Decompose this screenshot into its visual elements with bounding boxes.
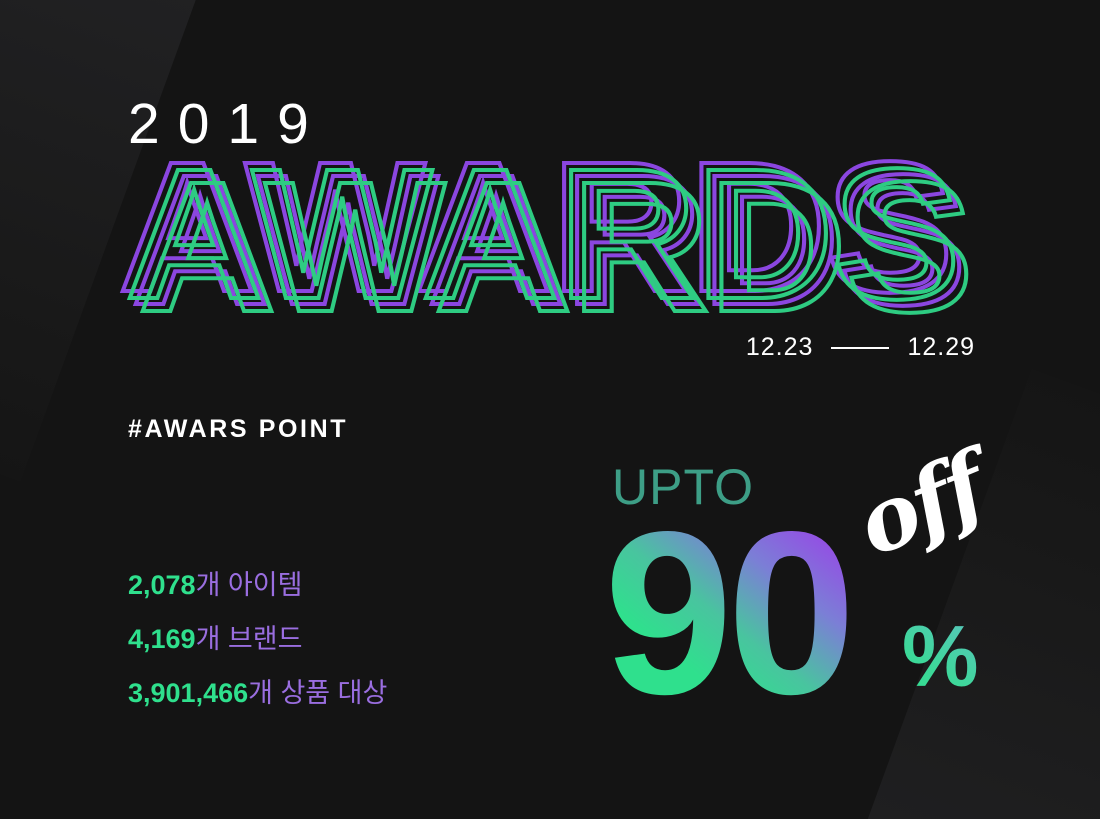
stat-row: 2,078개 아이템 [128,568,387,602]
stat-label: 아이템 [220,570,302,600]
off-script-label: off [846,440,995,569]
stat-label: 상품 대상 [273,678,387,708]
stat-number: 4,169 [128,624,196,654]
promo-banner: 2019 AWARDS AWARDS AWARDS AWARDS 12.23 1… [0,0,1100,819]
percent-symbol: % [902,614,978,700]
discount-value: 90 [604,498,850,730]
stat-number: 2,078 [128,570,196,600]
stat-row: 3,901,466개 상품 대상 [128,676,387,710]
point-section-heading: #AWARS POINT [128,415,348,444]
stat-unit: 개 [248,678,273,708]
stat-unit: 개 [196,624,221,654]
stat-label: 브랜드 [220,624,302,654]
discount-promo-block: UPTO 90 off % [604,462,1004,722]
stat-unit: 개 [196,570,221,600]
stat-row: 4,169개 브랜드 [128,622,387,656]
stats-list: 2,078개 아이템 4,169개 브랜드 3,901,466개 상품 대상 [128,568,387,710]
stat-number: 3,901,466 [128,678,248,708]
awards-wordmark: AWARDS AWARDS AWARDS AWARDS [118,133,998,323]
awards-outline-green-inner: AWARDS [138,153,973,343]
